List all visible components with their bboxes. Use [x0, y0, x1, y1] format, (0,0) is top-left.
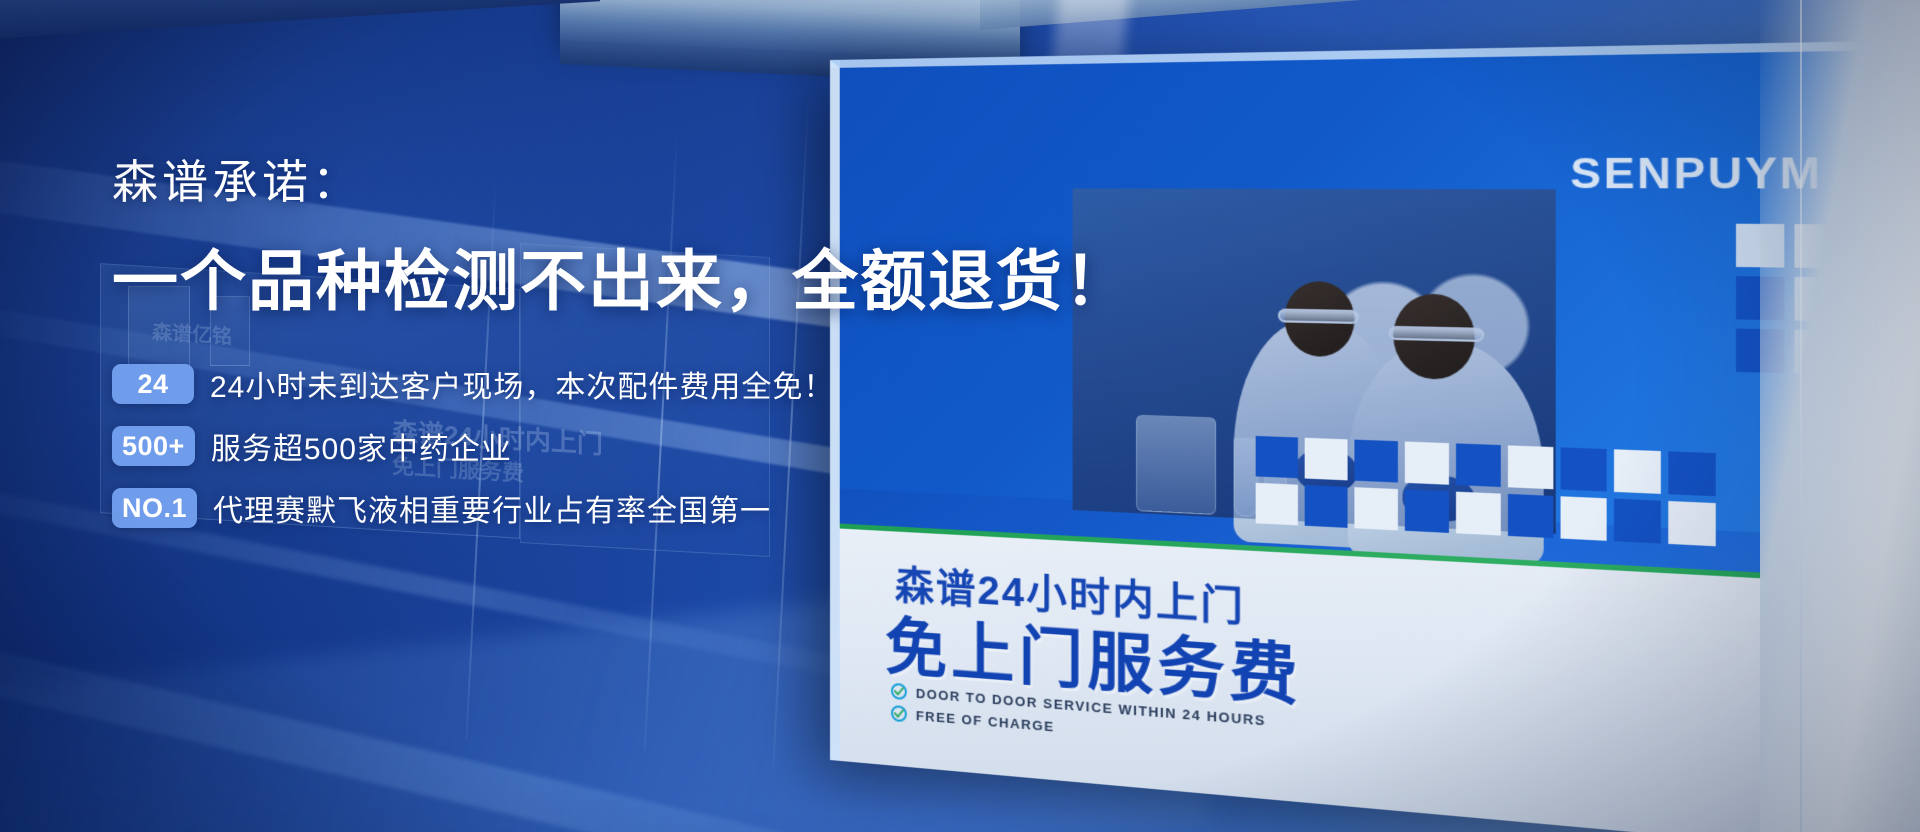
- hero-bullet-item: 24 24小时未到达客户现场，本次配件费用全免！: [112, 362, 1162, 406]
- corridor-wall-right: [1760, 0, 1920, 832]
- bullet-text: 服务超500家中药企业: [211, 424, 512, 468]
- hero-bullet-list: 24 24小时未到达客户现场，本次配件费用全免！ 500+ 服务超500家中药企…: [112, 362, 1162, 530]
- hero-bullet-item: 500+ 服务超500家中药企业: [112, 424, 1162, 468]
- ceiling-strip-left: [0, 0, 600, 38]
- bullet-badge: NO.1: [112, 488, 197, 528]
- hero-eyebrow: 森谱承诺：: [112, 146, 1162, 212]
- bullet-text: 代理赛默飞液相重要行业占有率全国第一: [213, 486, 771, 530]
- check-circle-icon: [891, 683, 907, 700]
- corridor-wall-seam: [1800, 0, 1802, 832]
- hero-banner: 森谱亿铭 森谱24小时内上门 免上门服务费 SENPUYM 森谱亿铭: [0, 0, 1920, 832]
- check-circle-icon: [891, 705, 907, 722]
- bullet-badge: 500+: [112, 426, 195, 466]
- hero-headline: 一个品种检测不出来，全额退货！: [112, 228, 1162, 324]
- hero-copy: 森谱承诺： 一个品种检测不出来，全额退货！ 24 24小时未到达客户现场，本次配…: [112, 146, 1162, 530]
- billboard-tagline-2: FREE OF CHARGE: [916, 707, 1055, 734]
- hero-bullet-item: NO.1 代理赛默飞液相重要行业占有率全国第一: [112, 486, 1162, 530]
- bullet-badge: 24: [112, 364, 194, 404]
- bullet-text: 24小时未到达客户现场，本次配件费用全免！: [210, 362, 834, 406]
